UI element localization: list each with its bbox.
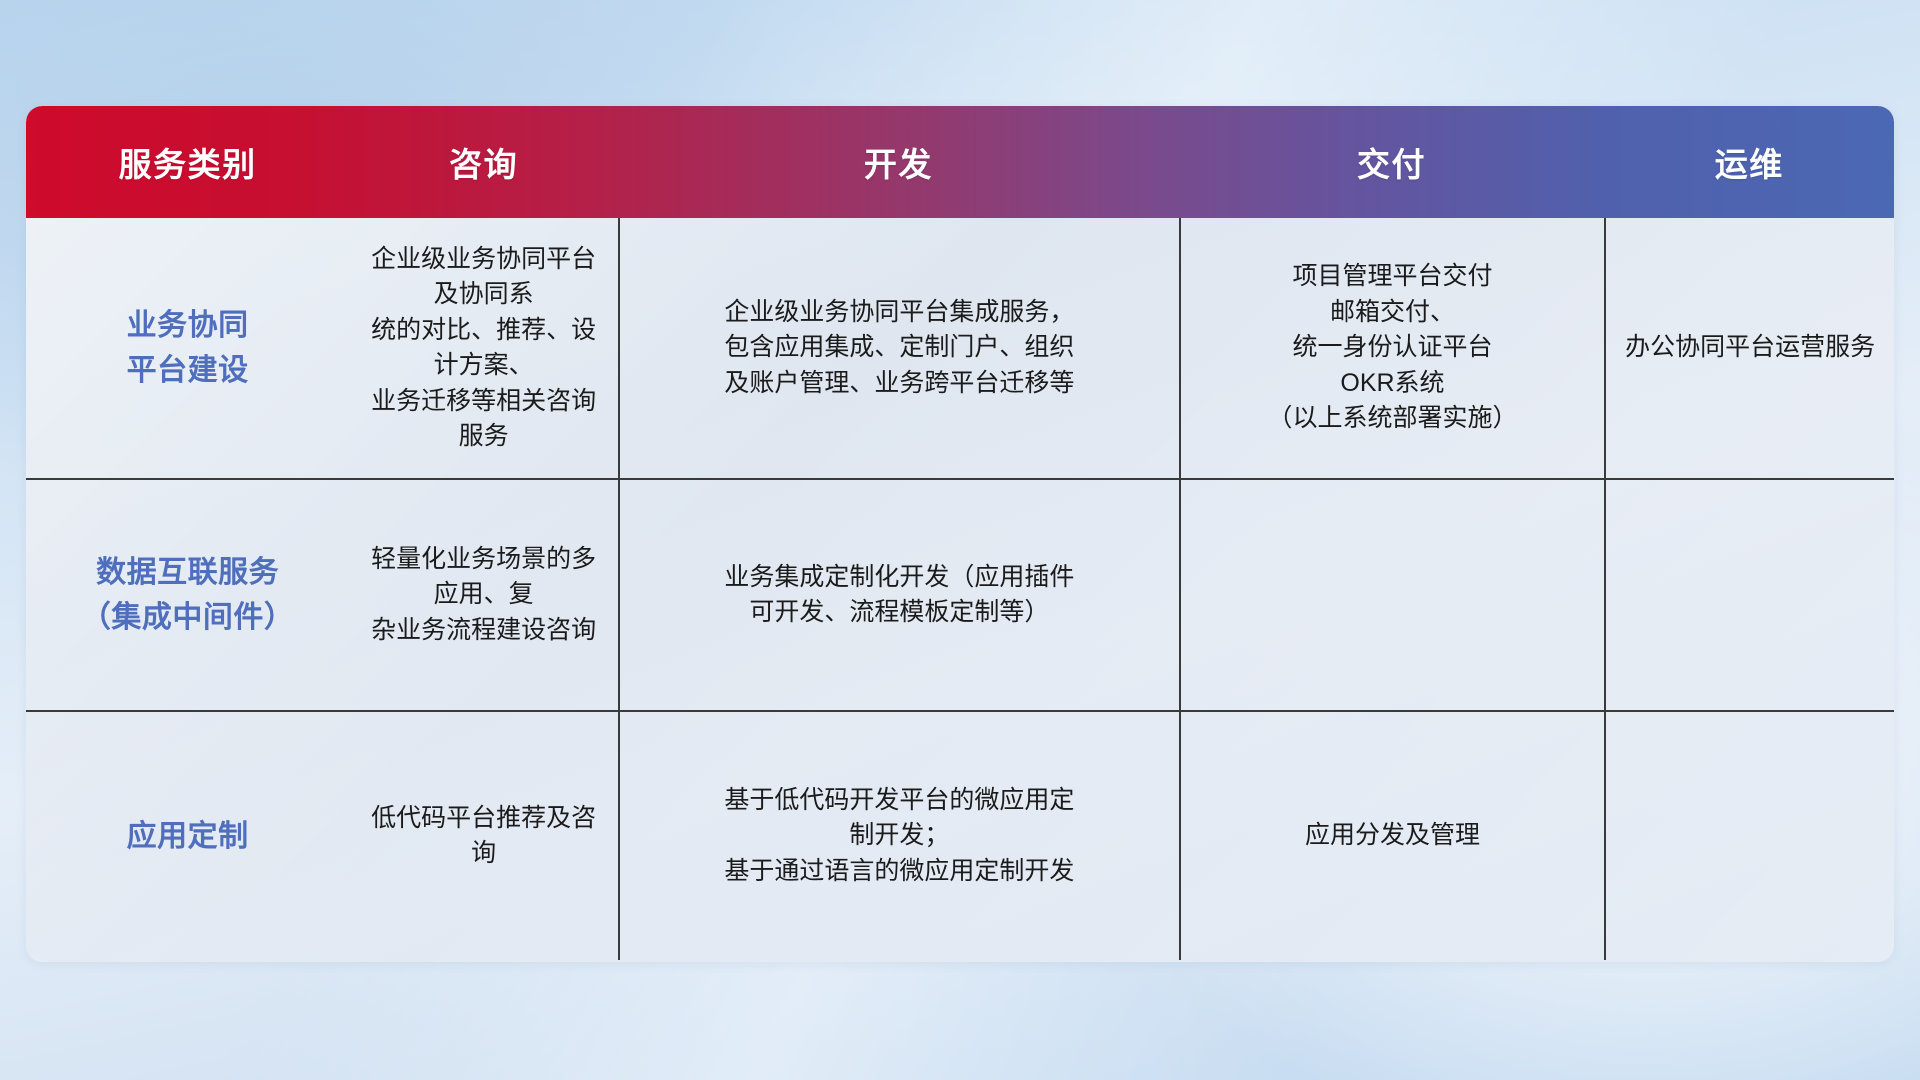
cell-delivery xyxy=(1179,480,1605,710)
column-header-delivery: 交付 xyxy=(1179,106,1605,218)
column-header-consulting: 咨询 xyxy=(349,106,618,218)
table-header-row: 服务类别 咨询 开发 交付 运维 xyxy=(26,106,1894,218)
cell-development: 企业级业务协同平台集成服务， 包含应用集成、定制门户、组织 及账户管理、业务跨平… xyxy=(618,218,1178,478)
cell-consulting: 企业级业务协同平台及协同系 统的对比、推荐、设计方案、 业务迁移等相关咨询服务 xyxy=(349,218,618,478)
cell-delivery: 应用分发及管理 xyxy=(1179,712,1605,960)
column-header-operations: 运维 xyxy=(1604,106,1894,218)
cell-category: 业务协同 平台建设 xyxy=(26,218,349,478)
cell-consulting: 轻量化业务场景的多应用、复 杂业务流程建设咨询 xyxy=(349,480,618,710)
cell-delivery: 项目管理平台交付 邮箱交付、 统一身份认证平台 OKR系统 （以上系统部署实施） xyxy=(1179,218,1605,478)
cell-category: 数据互联服务 （集成中间件） xyxy=(26,480,349,710)
table-row: 业务协同 平台建设 企业级业务协同平台及协同系 统的对比、推荐、设计方案、 业务… xyxy=(26,218,1894,478)
cell-development: 业务集成定制化开发（应用插件 可开发、流程模板定制等） xyxy=(618,480,1178,710)
cell-category: 应用定制 xyxy=(26,712,349,960)
cell-operations xyxy=(1604,480,1894,710)
table-row: 数据互联服务 （集成中间件） 轻量化业务场景的多应用、复 杂业务流程建设咨询 业… xyxy=(26,478,1894,710)
cell-development: 基于低代码开发平台的微应用定 制开发； 基于通过语言的微应用定制开发 xyxy=(618,712,1178,960)
cell-operations: 办公协同平台运营服务 xyxy=(1604,218,1894,478)
cell-consulting: 低代码平台推荐及咨询 xyxy=(349,712,618,960)
cell-operations xyxy=(1604,712,1894,960)
table-row: 应用定制 低代码平台推荐及咨询 基于低代码开发平台的微应用定 制开发； 基于通过… xyxy=(26,710,1894,960)
table-body: 业务协同 平台建设 企业级业务协同平台及协同系 统的对比、推荐、设计方案、 业务… xyxy=(26,218,1894,960)
service-matrix-card: 服务类别 咨询 开发 交付 运维 业务协同 平台建设 企业级业务协同平台及协同系… xyxy=(26,106,1894,962)
column-header-development: 开发 xyxy=(618,106,1178,218)
column-header-category: 服务类别 xyxy=(26,106,349,218)
